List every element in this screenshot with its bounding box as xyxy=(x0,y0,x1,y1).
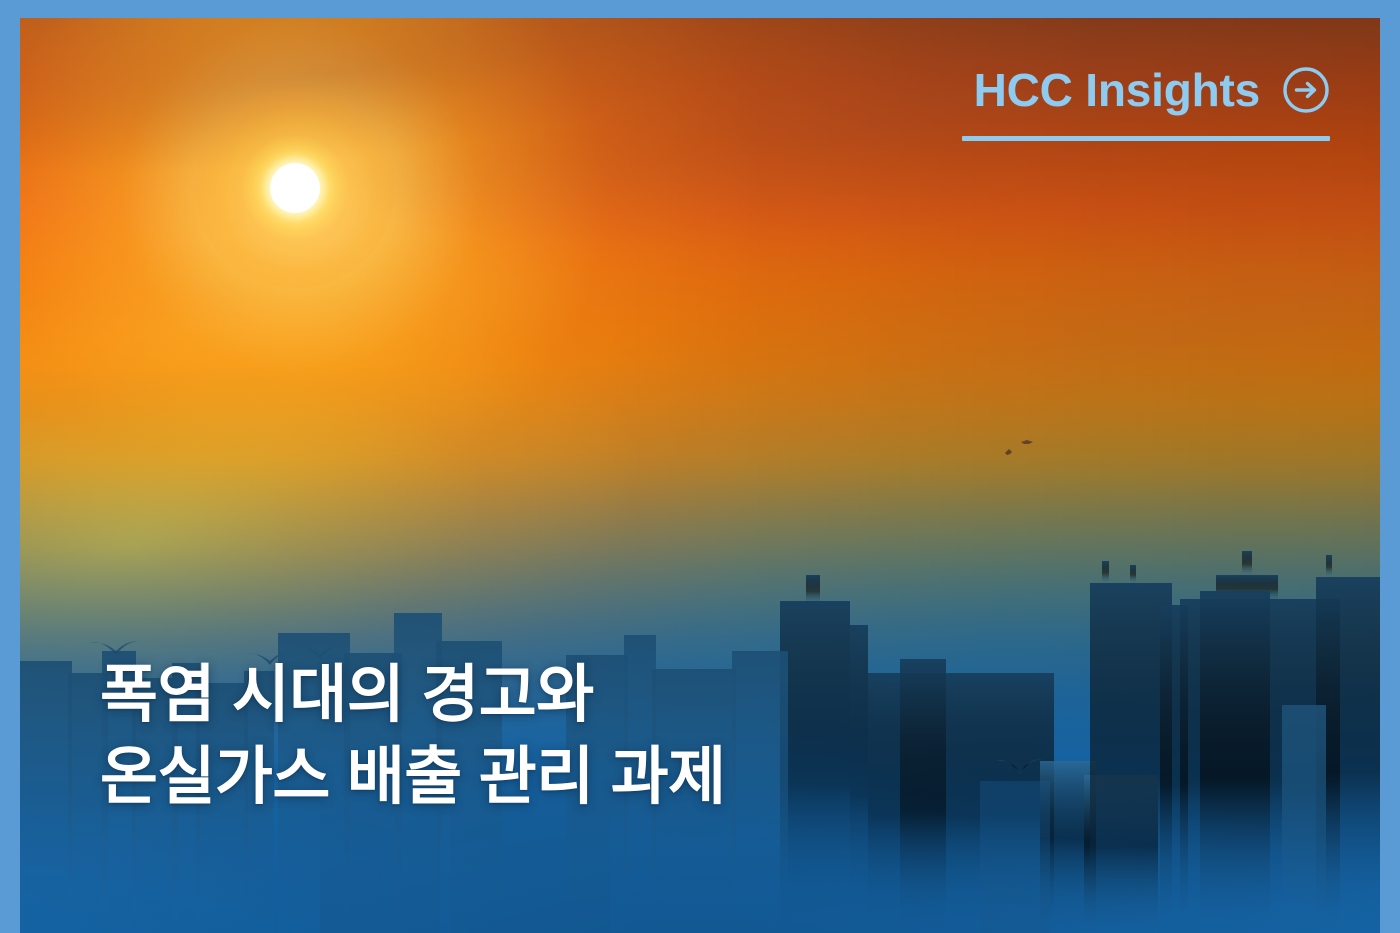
page-title: 폭염 시대의 경고와 온실가스 배출 관리 과제 xyxy=(100,655,726,819)
page-title-line-2: 온실가스 배출 관리 과제 xyxy=(100,737,726,819)
insight-card: HCC Insights 폭염 시대의 경고와 온실가스 배출 관리 과제 xyxy=(0,0,1400,933)
brand-label: HCC Insights xyxy=(974,67,1260,113)
brand-link[interactable]: HCC Insights xyxy=(962,66,1330,141)
brand-underline xyxy=(962,136,1330,141)
arrow-right-circle-icon[interactable] xyxy=(1282,66,1330,114)
page-title-line-1: 폭염 시대의 경고와 xyxy=(100,655,726,737)
brand-row: HCC Insights xyxy=(962,66,1330,114)
hero-photo: HCC Insights 폭염 시대의 경고와 온실가스 배출 관리 과제 xyxy=(20,18,1380,933)
